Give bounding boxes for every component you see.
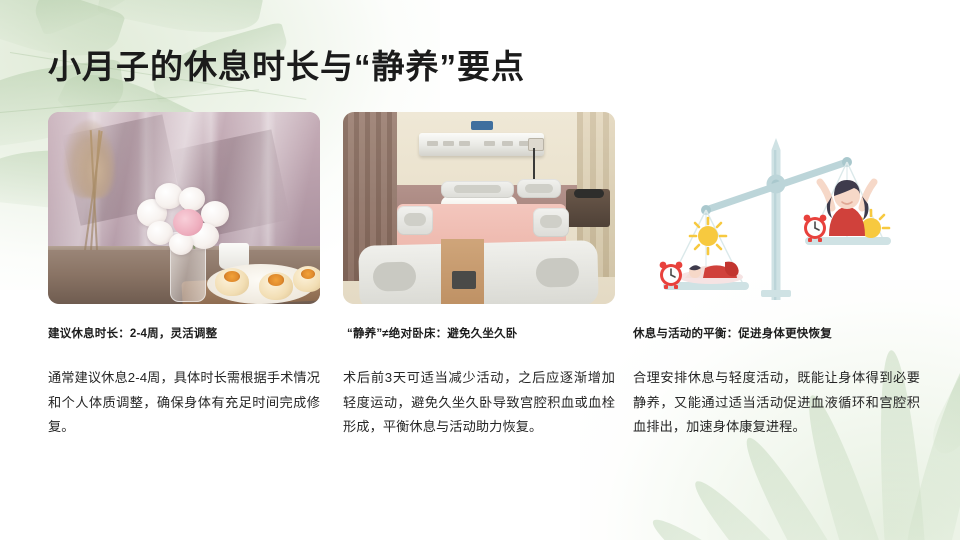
leaf-icon — [644, 508, 784, 540]
bed-clamp — [452, 271, 476, 288]
stem-icon — [0, 89, 259, 113]
column-body-text: 合理安排休息与轻度活动，既能让身体得到必要静养，又能通过适当活动促进血液循环和宫… — [633, 366, 920, 440]
pampas-grass-icon — [64, 120, 118, 270]
page-title: 小月子的休息时长与“静养”要点 — [48, 40, 525, 88]
pink-flower — [173, 209, 203, 236]
bed-rail — [397, 206, 432, 235]
wall-screen — [471, 121, 493, 131]
balance-scale-svg — [633, 112, 920, 304]
bed-rail — [533, 208, 568, 237]
flowers-vase-photo — [48, 112, 320, 304]
leaf-icon — [683, 470, 822, 540]
column-3: 休息与活动的平衡：促进身体更快恢复 合理安排休息与轻度活动，既能让身体得到必要静… — [633, 112, 920, 440]
telephone — [574, 189, 604, 199]
column-1: 建议休息时长：2-4周，灵活调整 通常建议休息2-4周，具体时长需根据手术情况和… — [48, 112, 320, 440]
pastry — [293, 266, 320, 292]
leaf-icon — [25, 0, 166, 36]
bed-rail — [517, 179, 561, 198]
hospital-bed-photo — [343, 112, 615, 304]
balance-scale-illustration — [633, 112, 920, 304]
scale-post-icon — [761, 138, 791, 300]
medical-wall-panel — [419, 133, 544, 156]
wall-outlet — [528, 138, 544, 152]
column-body-text: 通常建议休息2-4周，具体时长需根据手术情况和个人体质调整，确保身体有充足时间完… — [48, 366, 320, 440]
sun-icon — [690, 218, 726, 254]
leaf-icon — [925, 310, 960, 460]
column-caption: 建议休息时长：2-4周，灵活调整 — [48, 326, 320, 342]
column-2: “静养”≠绝对卧床：避免久坐久卧 术后前3天可适当减少活动，之后应逐渐增加轻度运… — [343, 112, 615, 440]
column-caption: 休息与活动的平衡：促进身体更快恢复 — [633, 326, 920, 342]
column-body-text: 术后前3天可适当减少活动，之后应逐渐增加轻度运动，避免久坐久卧导致宫腔积血或血栓… — [343, 366, 615, 440]
leaf-icon — [733, 429, 862, 540]
pastry — [259, 272, 293, 300]
flower-bouquet — [131, 181, 239, 259]
sleeping-person-icon — [679, 262, 743, 284]
column-caption: “静养”≠绝对卧床：避免久坐久卧 — [347, 326, 615, 342]
bed-rail — [441, 181, 514, 198]
pastry — [215, 268, 249, 296]
slide: 小月子的休息时长与“静养”要点 — [0, 0, 960, 540]
